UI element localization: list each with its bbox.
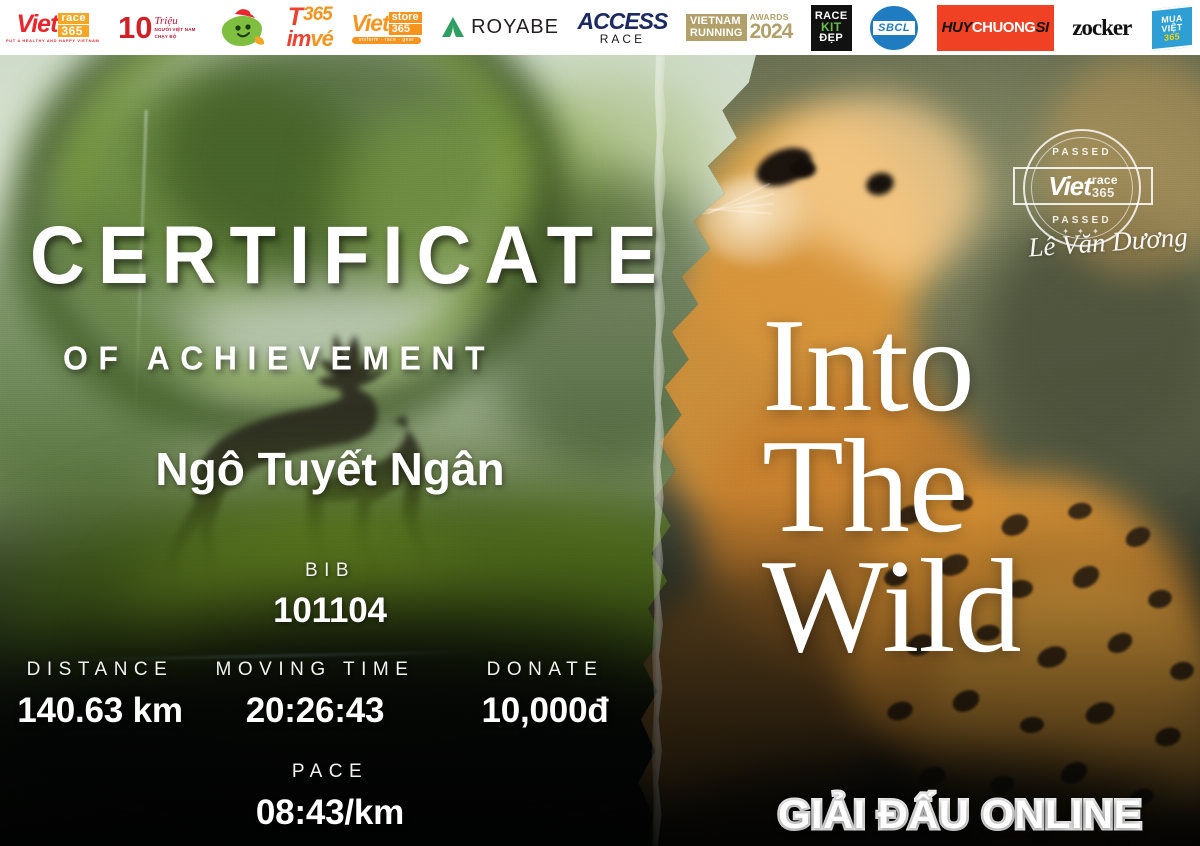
vietrace-tagline: PUT A HEALTHY AND HAPPY VIETNAM <box>6 39 100 43</box>
royabe-leaf-icon <box>440 15 466 41</box>
stat-pace: PACE 08:43/km <box>150 761 510 833</box>
stat-donate: DONATE 10,000đ <box>430 659 660 731</box>
sponsor-logo-vietrace365: Viet race 365 PUT A HEALTHY AND HAPPY VI… <box>6 5 100 51</box>
vietstore-store-tag: store <box>389 12 422 23</box>
vietstore-wordmark: Viet <box>351 12 388 35</box>
sponsor-logo-huy-chuong-si: HUYCHUONGSI <box>937 5 1054 51</box>
sbcl-wordmark: SBCL <box>873 21 915 35</box>
verification-stamp: PASSED PASSED ✦ ✦ ✦ Viet race 365 Lê Văn… <box>1005 127 1185 267</box>
event-title: Into The Wild <box>762 305 1182 667</box>
sponsor-logo-sbcl: SBCL <box>870 6 918 50</box>
chay-bo-line: CHẠY BỘ <box>155 34 196 40</box>
certificate-text-layer: CERTIFICATE OF ACHIEVEMENT Ngô Tuyết Ngâ… <box>0 55 1200 846</box>
sponsor-logo-bar: Viet race 365 PUT A HEALTHY AND HAPPY VI… <box>0 0 1200 55</box>
sponsor-logo-mascot <box>214 5 268 51</box>
event-tagline: GIẢI ĐẤU ONLINE <box>736 793 1183 838</box>
mascot-icon <box>215 6 267 50</box>
distance-label: DISTANCE <box>27 659 174 680</box>
timve-ve: vé <box>310 29 332 49</box>
vietstore-365-tag: 365 <box>389 24 422 35</box>
certificate-title: CERTIFICATE <box>30 215 650 297</box>
trieu-script: Triệu <box>155 15 196 27</box>
stamp-brand-viet: Viet <box>1048 173 1091 199</box>
certificate-subtitle: OF ACHIEVEMENT <box>63 341 663 375</box>
moving-time-label: MOVING TIME <box>216 659 415 680</box>
hcs-si: SI <box>1035 19 1048 36</box>
certificate-canvas: CERTIFICATE OF ACHIEVEMENT Ngô Tuyết Ngâ… <box>0 55 1200 846</box>
moving-time-value: 20:26:43 <box>200 691 430 731</box>
bib-label: BIB <box>0 560 660 582</box>
sponsor-logo-access-race: ACCESS RACE <box>577 5 667 51</box>
pace-label: PACE <box>292 761 368 782</box>
event-title-line-2: The <box>762 426 1182 547</box>
stamp-passed-top: PASSED <box>1023 147 1141 158</box>
vra-vietnam: VIETNAM <box>690 16 743 27</box>
sponsor-logo-race-kit-dep: RACE KIT ĐẸP <box>811 5 852 51</box>
vietstore-pill: uniform · race · gear <box>352 37 422 44</box>
zocker-wordmark: zocker <box>1072 15 1131 41</box>
pace-value: 08:43/km <box>150 793 510 833</box>
sponsor-logo-vietstore365: Viet store 365 uniform · race · gear <box>351 5 421 51</box>
sponsor-logo-zocker: zocker <box>1072 5 1131 51</box>
stat-distance: DISTANCE 140.63 km <box>0 659 200 731</box>
vietrace-365-tag: 365 <box>58 25 89 37</box>
vra-running: RUNNING <box>690 28 743 39</box>
ten-million-number: 10 <box>118 14 152 42</box>
vietrace-wordmark: Viet <box>16 12 57 37</box>
rkd-dep: ĐẸP <box>819 33 843 43</box>
athlete-name: Ngô Tuyết Ngân <box>0 442 660 496</box>
event-title-line-3: Wild <box>762 546 1182 667</box>
mv-365: 365 <box>1164 31 1180 42</box>
hcs-chuong: CHUONG <box>972 19 1036 36</box>
access-wordmark: ACCESS <box>577 10 667 33</box>
bib-value: 101104 <box>0 591 660 631</box>
vra-year: 2024 <box>750 21 793 42</box>
stats-row: DISTANCE 140.63 km MOVING TIME 20:26:43 … <box>0 659 660 731</box>
stamp-logo-box: Viet race 365 <box>1013 167 1153 205</box>
sponsor-logo-vietnam-running-awards: VIETNAM RUNNING AWARDS 2024 <box>686 5 792 51</box>
sponsor-logo-mua-viet-365: MUA VIỆT 365 <box>1150 7 1194 49</box>
event-title-line-1: Into <box>762 305 1182 426</box>
sponsor-logo-timve365: T 365 im vé <box>287 5 333 51</box>
stat-moving-time: MOVING TIME 20:26:43 <box>200 659 430 731</box>
sponsor-logo-10-trieu: 10 Triệu NGƯỜI VIỆT NAM CHẠY BỘ <box>118 5 196 51</box>
access-race-word: RACE <box>600 33 645 45</box>
timve-tim: im <box>287 29 311 49</box>
vietrace-race-tag: race <box>58 13 89 24</box>
donate-value: 10,000đ <box>430 691 660 731</box>
stamp-passed-bottom: PASSED <box>1023 215 1141 226</box>
distance-value: 140.63 km <box>0 691 200 731</box>
sponsor-logo-royabe: ROYABE <box>440 5 559 51</box>
hcs-huy: HUY <box>942 19 972 36</box>
stamp-brand-365: 365 <box>1092 186 1118 199</box>
timve-365: 365 <box>303 6 332 23</box>
bib-block: BIB 101104 <box>0 560 660 631</box>
donate-label: DONATE <box>487 659 604 680</box>
royabe-wordmark: ROYABE <box>471 16 559 39</box>
